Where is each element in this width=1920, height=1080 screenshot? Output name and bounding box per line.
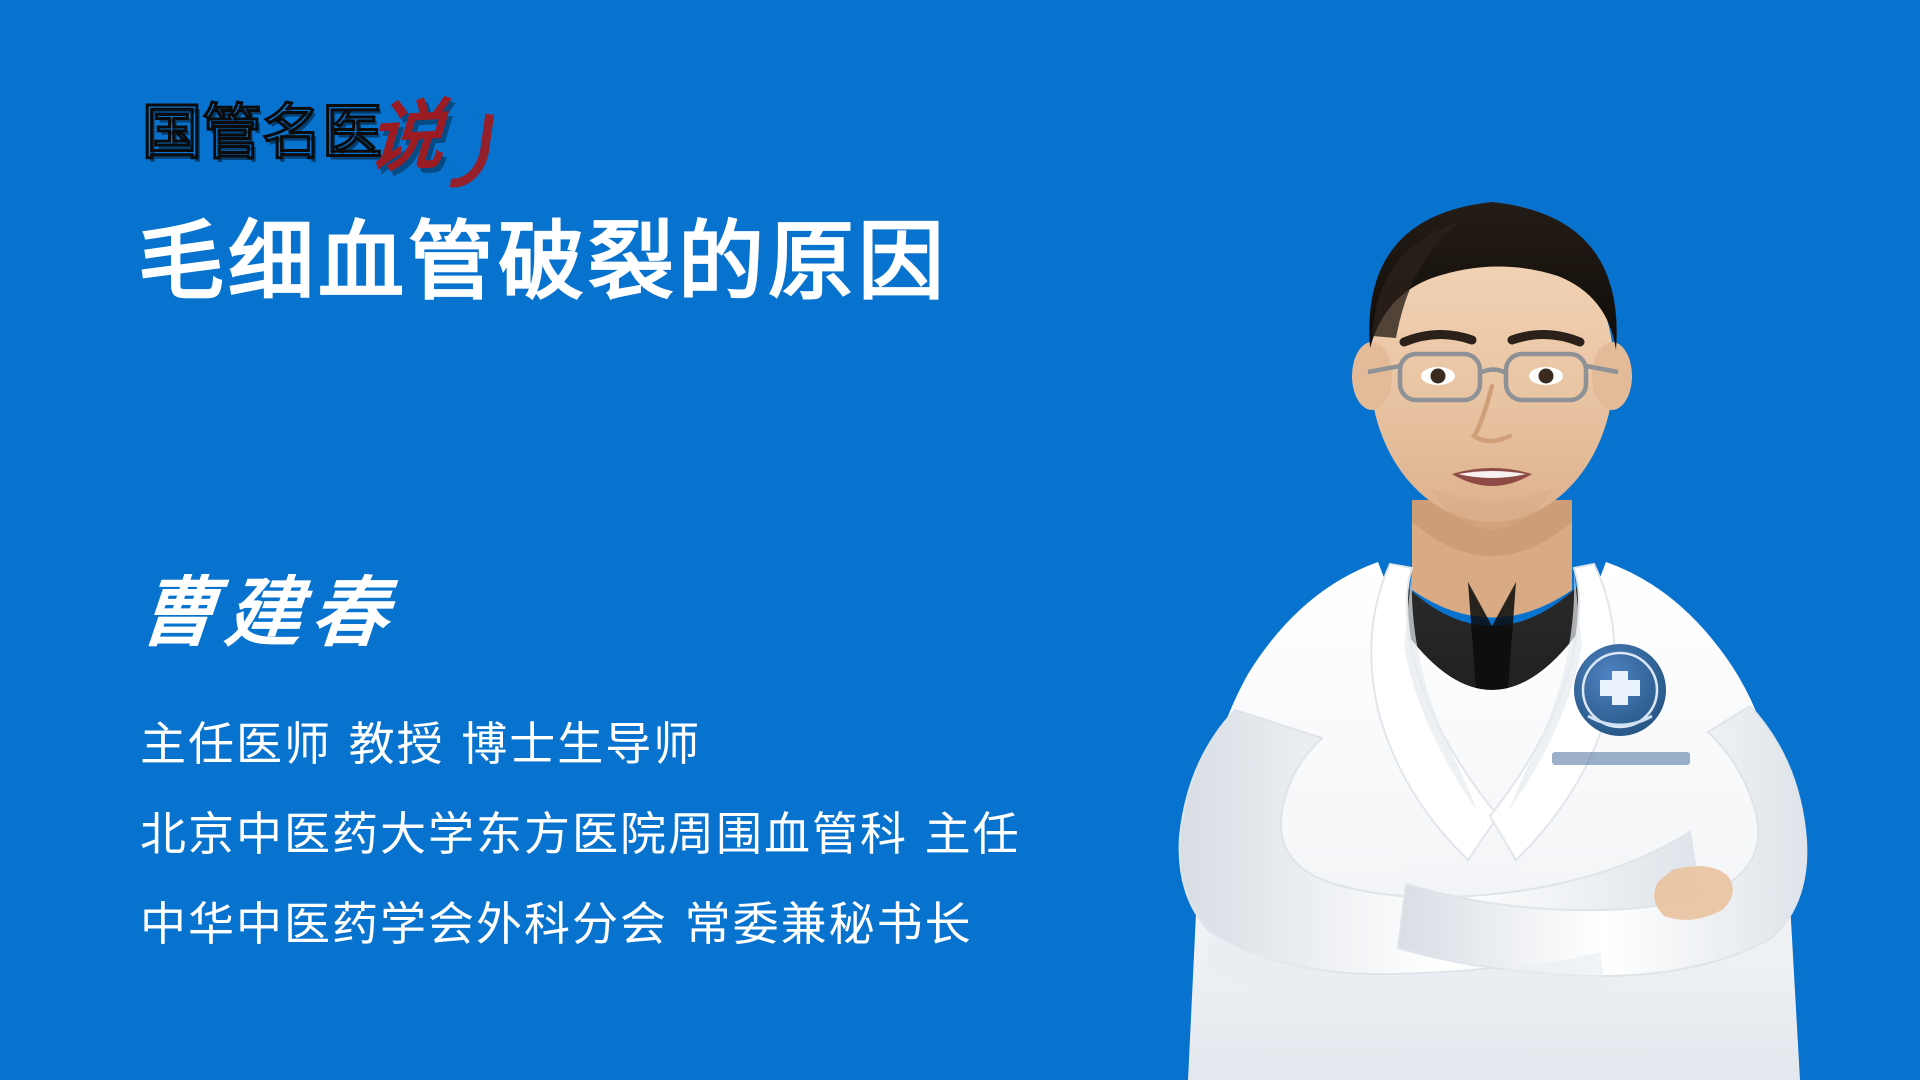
brand-logo-brush-tail xyxy=(450,110,495,192)
video-cover-slide: 国管名医 说 毛细血管破裂的原因 曹建春 主任医师 教授 博士生导师 北京中医药… xyxy=(0,0,1920,1080)
page-title: 毛细血管破裂的原因 xyxy=(138,212,948,312)
credential-line: 北京中医药大学东方医院周围血管科 主任 xyxy=(140,808,1021,860)
doctor-name: 曹建春 xyxy=(136,570,402,656)
doctor-credentials: 主任医师 教授 博士生导师 北京中医药大学东方医院周围血管科 主任 中华中医药学… xyxy=(140,718,1021,950)
credential-line: 中华中医药学会外科分会 常委兼秘书长 xyxy=(140,898,1021,950)
credential-line: 主任医师 教授 博士生导师 xyxy=(140,718,1021,770)
brand-logo: 国管名医 说 xyxy=(142,92,442,164)
brand-logo-main: 国管名医 xyxy=(142,102,382,164)
brand-logo-accent: 说 xyxy=(366,104,446,170)
doctor-portrait xyxy=(1060,70,1920,1080)
